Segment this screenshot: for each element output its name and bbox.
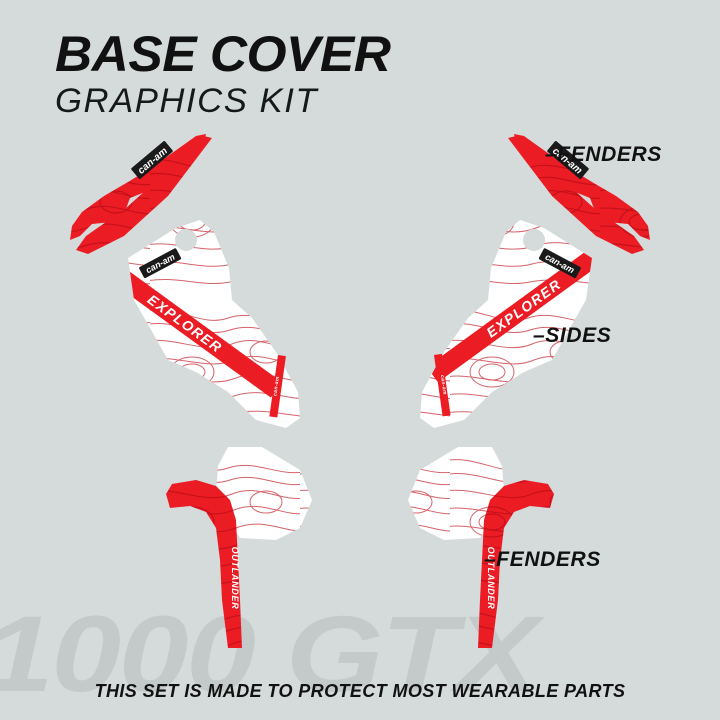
page-title: BASE COVER xyxy=(55,30,632,79)
label-outlander-left: OUTLANDER xyxy=(230,547,240,610)
poster-header: BASE COVER GRAPHICS KIT xyxy=(55,30,615,121)
graphics-kit-poster: 1000 GTX xyxy=(0,0,720,720)
decal-side-left: EXPLORER can-am xyxy=(89,210,320,450)
callout-fenders-bottom: –FENDERS xyxy=(484,548,601,572)
footer-tagline: THIS SET IS MADE TO PROTECT MOST WEARABL… xyxy=(0,681,720,702)
callout-fenders-top: –FENDERS xyxy=(545,143,662,167)
page-subtitle: GRAPHICS KIT xyxy=(55,82,626,121)
decal-fender-bottom-left: OUTLANDER xyxy=(166,480,242,648)
callout-sides: –SIDES xyxy=(533,324,611,348)
